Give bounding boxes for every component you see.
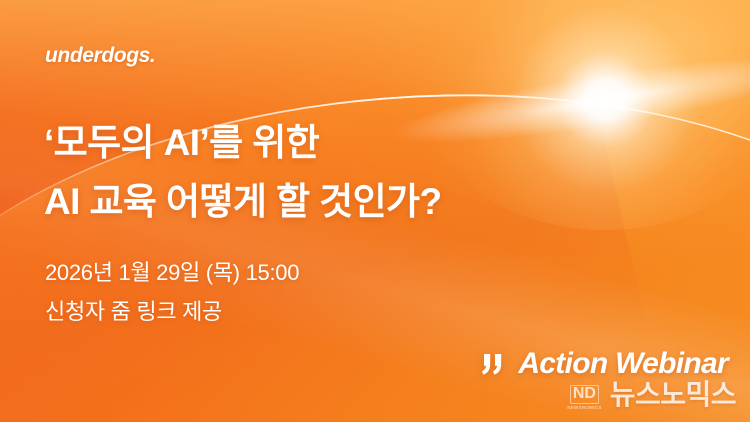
headline-line-1: ‘모두의 AI’를 위한 <box>44 113 441 172</box>
event-details: 2026년 1월 29일 (목) 15:00 신청자 줌 링크 제공 <box>45 253 299 331</box>
event-datetime: 2026년 1월 29일 (목) 15:00 <box>45 253 299 292</box>
banner-content: underdogs. ‘모두의 AI’를 위한 AI 교육 어떻게 할 것인가?… <box>0 0 750 422</box>
watermark-outlet-name: 뉴스노믹스 <box>610 373 736 413</box>
watermark-subtext: NEWSNOMICS <box>567 406 602 411</box>
underdogs-logo: underdogs. <box>45 44 155 68</box>
quote-mark-icon <box>482 351 509 377</box>
press-watermark: ND NEWSNOMICS 뉴스노믹스 <box>567 373 736 413</box>
headline: ‘모두의 AI’를 위한 AI 교육 어떻게 할 것인가? <box>44 113 441 231</box>
webinar-promo-banner: underdogs. ‘모두의 AI’를 위한 AI 교육 어떻게 할 것인가?… <box>0 0 750 422</box>
watermark-initials: ND <box>570 385 599 404</box>
headline-line-2: AI 교육 어떻게 할 것인가? <box>44 172 441 231</box>
event-access-note: 신청자 줌 링크 제공 <box>45 292 299 331</box>
watermark-logo-mark: ND NEWSNOMICS <box>567 385 602 414</box>
